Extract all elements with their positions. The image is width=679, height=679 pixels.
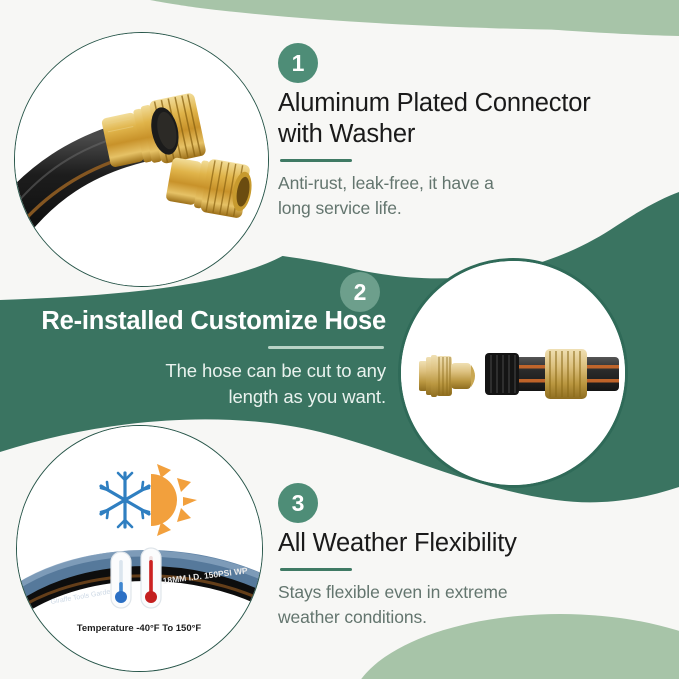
feature-badge-3: 3 <box>278 483 318 523</box>
feature-divider-3 <box>280 568 352 571</box>
feature-text-2: Re-installed Customize Hose The hose can… <box>30 306 386 410</box>
hot-thermometer-icon <box>141 548 161 608</box>
feature-heading-3: All Weather Flexibility <box>278 528 658 559</box>
feature-subtext-1: Anti-rust, leak-free, it have a long ser… <box>278 171 658 221</box>
feature-divider-2 <box>268 346 384 349</box>
feature-subtext-2: The hose can be cut to any length as you… <box>30 358 386 411</box>
badge-number-1: 1 <box>292 52 305 75</box>
feature-image-3: 5/8" 18MM I.D. 150PSI WP Giraffe Tools G… <box>16 425 263 672</box>
feature-text-1: Aluminum Plated Connector with Washer An… <box>278 88 658 221</box>
feature-image-1 <box>14 32 269 287</box>
feature-heading-1: Aluminum Plated Connector with Washer <box>278 88 658 150</box>
exploded-connector-illustration <box>401 261 625 485</box>
badge-number-2: 2 <box>354 281 367 304</box>
brass-connector-illustration <box>15 33 268 286</box>
feature-image-2 <box>398 258 628 488</box>
cold-thermometer-icon <box>111 552 131 608</box>
temperature-caption: Temperature -40°F To 150°F <box>77 623 202 634</box>
feature-divider-1 <box>280 159 352 162</box>
badge-number-3: 3 <box>292 492 305 515</box>
feature-badge-1: 1 <box>278 43 318 83</box>
feature-text-3: All Weather Flexibility Stays flexible e… <box>278 528 658 630</box>
feature-subtext-3: Stays flexible even in extreme weather c… <box>278 580 658 630</box>
feature-heading-2: Re-installed Customize Hose <box>30 306 386 337</box>
infographic-canvas: 5/8" 18MM I.D. 150PSI WP Giraffe Tools G… <box>0 0 679 679</box>
all-weather-illustration: 5/8" 18MM I.D. 150PSI WP Giraffe Tools G… <box>17 426 262 671</box>
